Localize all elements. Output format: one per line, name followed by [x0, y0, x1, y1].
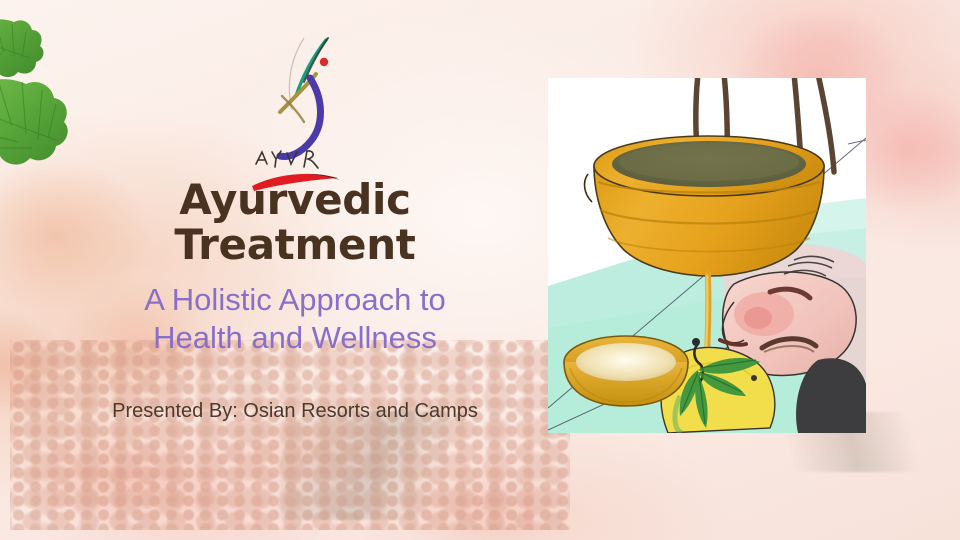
presentation-slide: Ayurvedic Treatment A Holistic Approach … [0, 0, 960, 540]
page-title: Ayurvedic Treatment [30, 178, 560, 267]
subtitle-line-2: Health and Wellness [153, 320, 437, 355]
title-line-2: Treatment [174, 220, 415, 269]
presenter-credit: Presented By: Osian Resorts and Camps [30, 400, 560, 423]
small-bowl [564, 336, 688, 406]
title-line-1: Ayurvedic [179, 175, 411, 224]
leaf-icon-upper [0, 19, 43, 77]
brush-streak-bottom-left [280, 410, 500, 520]
subtitle-line-1: A Holistic Approach to [144, 282, 446, 317]
subtitle: A Holistic Approach to Health and Wellne… [30, 281, 560, 357]
logo-red-dot [320, 58, 328, 66]
leaf-icon-lower [0, 79, 68, 164]
ayur-logo [252, 34, 368, 194]
shirodhara-illustration [548, 78, 866, 433]
title-text-block: Ayurvedic Treatment A Holistic Approach … [30, 178, 560, 423]
leaf-decoration [0, 14, 122, 174]
